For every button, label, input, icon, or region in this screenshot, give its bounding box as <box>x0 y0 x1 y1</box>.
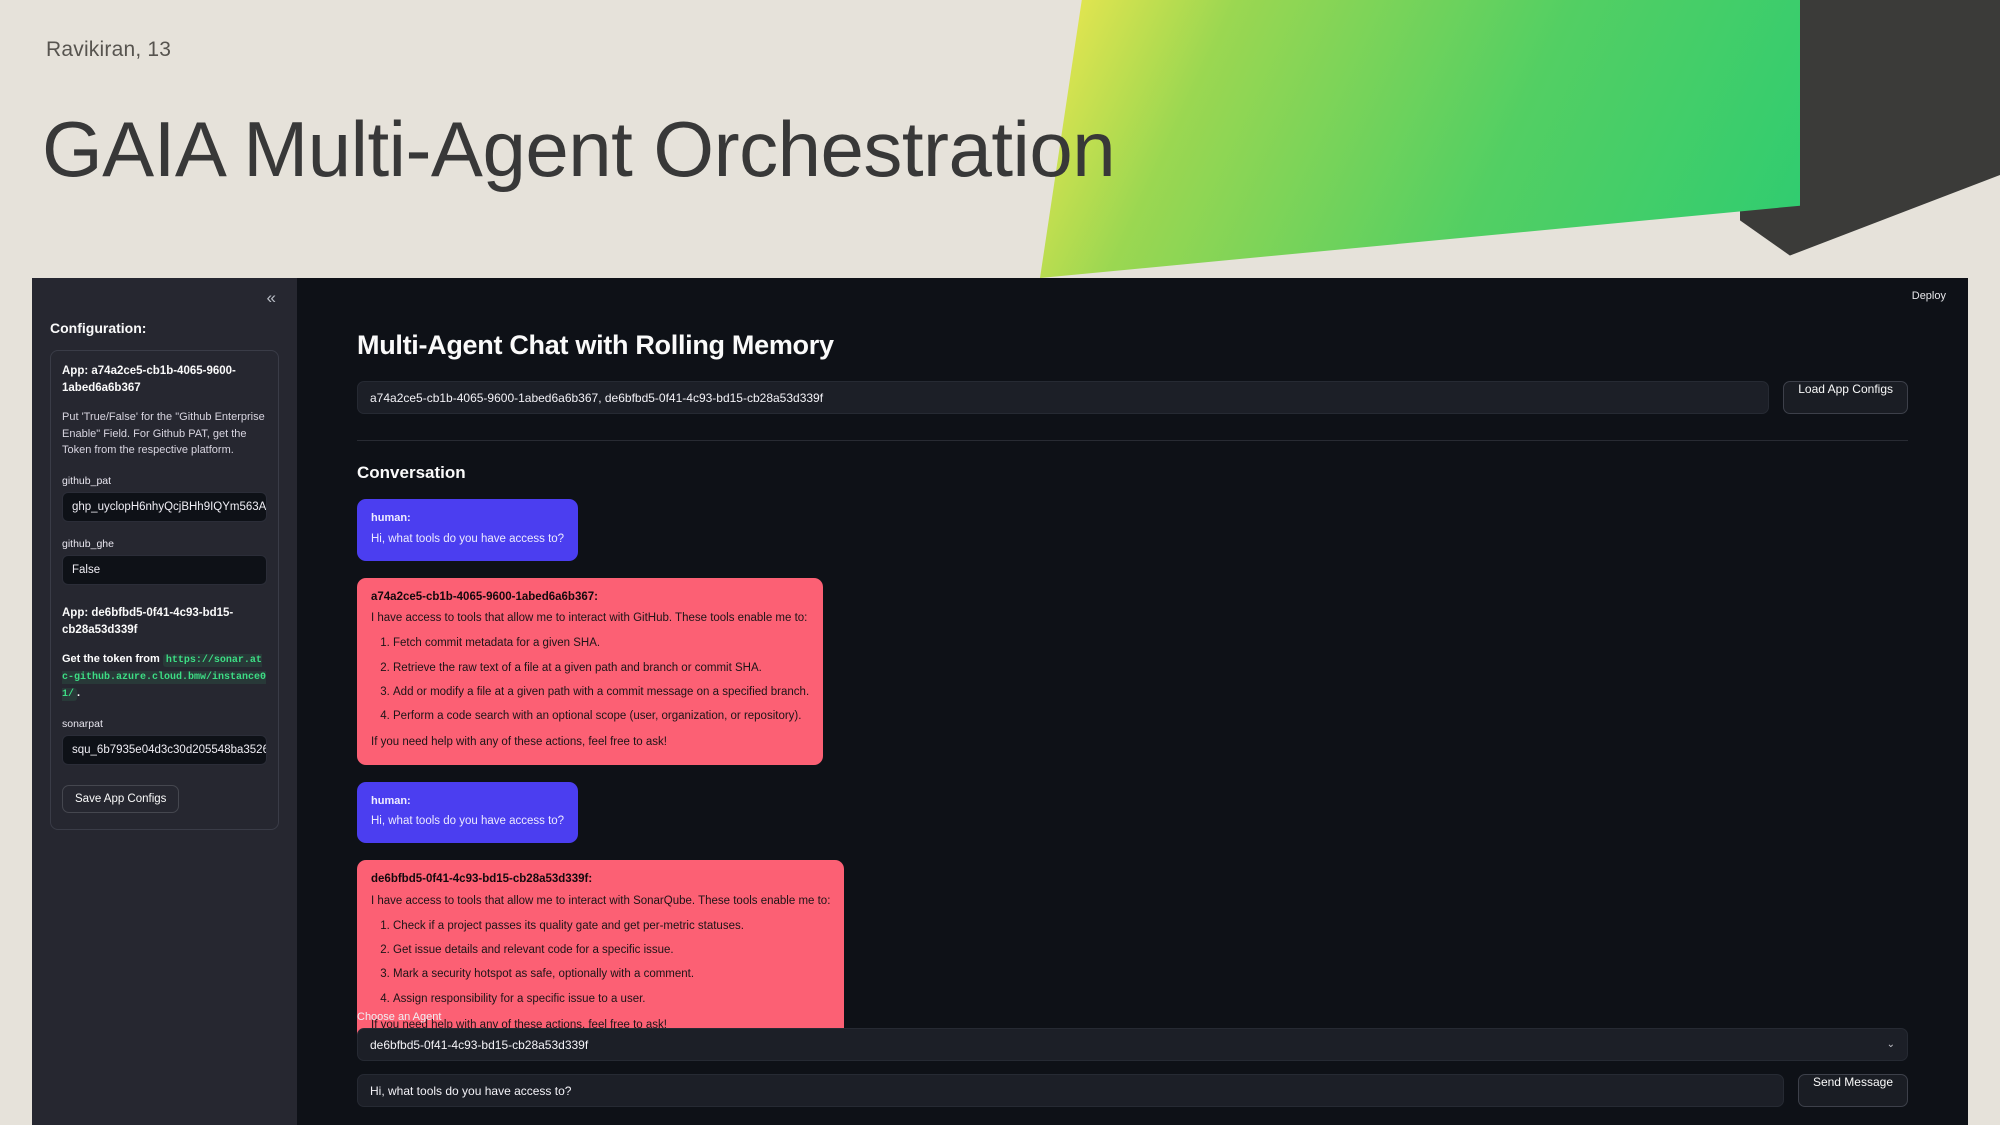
app1-id-label: App: a74a2ce5-cb1b-4065-9600-1abed6a6b36… <box>62 363 267 396</box>
save-app-configs-button[interactable]: Save App Configs <box>62 785 179 813</box>
chat-speaker: de6bfbd5-0f41-4c93-bd15-cb28a53d339f: <box>371 871 830 888</box>
chat-body: I have access to tools that allow me to … <box>371 893 830 910</box>
chat-tool-item: Get issue details and relevant code for … <box>393 942 830 959</box>
github-ghe-input[interactable]: False <box>62 555 267 585</box>
choose-agent-select[interactable]: de6bfbd5-0f41-4c93-bd15-cb28a53d339f ⌄ <box>357 1028 1908 1061</box>
chat-speaker: human: <box>371 793 564 810</box>
app2-id-label: App: de6bfbd5-0f41-4c93-bd15-cb28a53d339… <box>62 605 267 638</box>
chat-bubble-agent: a74a2ce5-cb1b-4065-9600-1abed6a6b367:I h… <box>357 578 823 765</box>
github-helper-text: Put 'True/False' for the "Github Enterpr… <box>62 409 267 459</box>
chevron-down-icon: ⌄ <box>1887 1039 1895 1050</box>
deploy-button[interactable]: Deploy <box>1912 290 1946 302</box>
chat-body: Hi, what tools do you have access to? <box>371 813 564 830</box>
main-panel: Deploy Multi-Agent Chat with Rolling Mem… <box>297 278 1968 1125</box>
github-pat-label: github_pat <box>62 475 267 487</box>
message-input[interactable]: Hi, what tools do you have access to? <box>357 1074 1784 1107</box>
composer-area: Choose an Agent de6bfbd5-0f41-4c93-bd15-… <box>357 1011 1908 1107</box>
configuration-card: App: a74a2ce5-cb1b-4065-9600-1abed6a6b36… <box>50 350 279 830</box>
app-screenshot-window: « Configuration: App: a74a2ce5-cb1b-4065… <box>32 278 1968 1125</box>
section-divider <box>357 440 1908 441</box>
chat-body: Hi, what tools do you have access to? <box>371 531 564 548</box>
chat-tool-list: Check if a project passes its quality ga… <box>371 918 830 1008</box>
chat-tool-item: Check if a project passes its quality ga… <box>393 918 830 935</box>
chat-tool-item: Assign responsibility for a specific iss… <box>393 991 830 1008</box>
chat-body: I have access to tools that allow me to … <box>371 610 809 627</box>
sonarpat-label: sonarpat <box>62 718 267 730</box>
page-title: GAIA Multi-Agent Orchestration <box>42 110 1115 188</box>
conversation-list: human:Hi, what tools do you have access … <box>357 499 1908 1047</box>
load-app-configs-button[interactable]: Load App Configs <box>1783 381 1908 414</box>
github-pat-input[interactable]: ghp_uyclopH6nhyQcjBHh9IQYm563AKeOS <box>62 492 267 522</box>
app-ids-row: a74a2ce5-cb1b-4065-9600-1abed6a6b367, de… <box>357 381 1908 414</box>
chat-closing: If you need help with any of these actio… <box>371 734 809 751</box>
sonar-token-lead: Get the token from <box>62 653 160 665</box>
sonar-token-trail: . <box>77 687 80 699</box>
main-title: Multi-Agent Chat with Rolling Memory <box>357 330 1908 361</box>
conversation-heading: Conversation <box>357 463 1908 483</box>
chat-tool-item: Mark a security hotspot as safe, optiona… <box>393 966 830 983</box>
chat-speaker: a74a2ce5-cb1b-4065-9600-1abed6a6b367: <box>371 589 809 606</box>
send-message-button[interactable]: Send Message <box>1798 1074 1908 1107</box>
chat-tool-list: Fetch commit metadata for a given SHA.Re… <box>371 635 809 725</box>
chat-tool-item: Add or modify a file at a given path wit… <box>393 684 809 701</box>
sidebar: « Configuration: App: a74a2ce5-cb1b-4065… <box>32 278 297 1125</box>
chat-bubble-human: human:Hi, what tools do you have access … <box>357 782 578 844</box>
chat-bubble-human: human:Hi, what tools do you have access … <box>357 499 578 561</box>
chat-tool-item: Retrieve the raw text of a file at a giv… <box>393 660 809 677</box>
send-row: Hi, what tools do you have access to? Se… <box>357 1074 1908 1107</box>
choose-agent-label: Choose an Agent <box>357 1011 1908 1023</box>
chat-tool-item: Fetch commit metadata for a given SHA. <box>393 635 809 652</box>
chat-speaker: human: <box>371 510 564 527</box>
github-ghe-label: github_ghe <box>62 538 267 550</box>
chat-tool-item: Perform a code search with an optional s… <box>393 708 809 725</box>
sonarpat-input[interactable]: squ_6b7935e04d3c30d205548ba35269e24b <box>62 735 267 765</box>
sidebar-collapse-icon[interactable]: « <box>262 286 281 309</box>
slide-decoration-green-gradient <box>1040 0 1800 278</box>
sonar-token-helper-text: Get the token from https://sonar.atc-git… <box>62 651 267 702</box>
choose-agent-value: de6bfbd5-0f41-4c93-bd15-cb28a53d339f <box>370 1038 588 1052</box>
slide-author-meta: Ravikiran, 13 <box>46 38 171 62</box>
app-ids-input[interactable]: a74a2ce5-cb1b-4065-9600-1abed6a6b367, de… <box>357 381 1769 414</box>
sidebar-heading: Configuration: <box>50 320 279 336</box>
